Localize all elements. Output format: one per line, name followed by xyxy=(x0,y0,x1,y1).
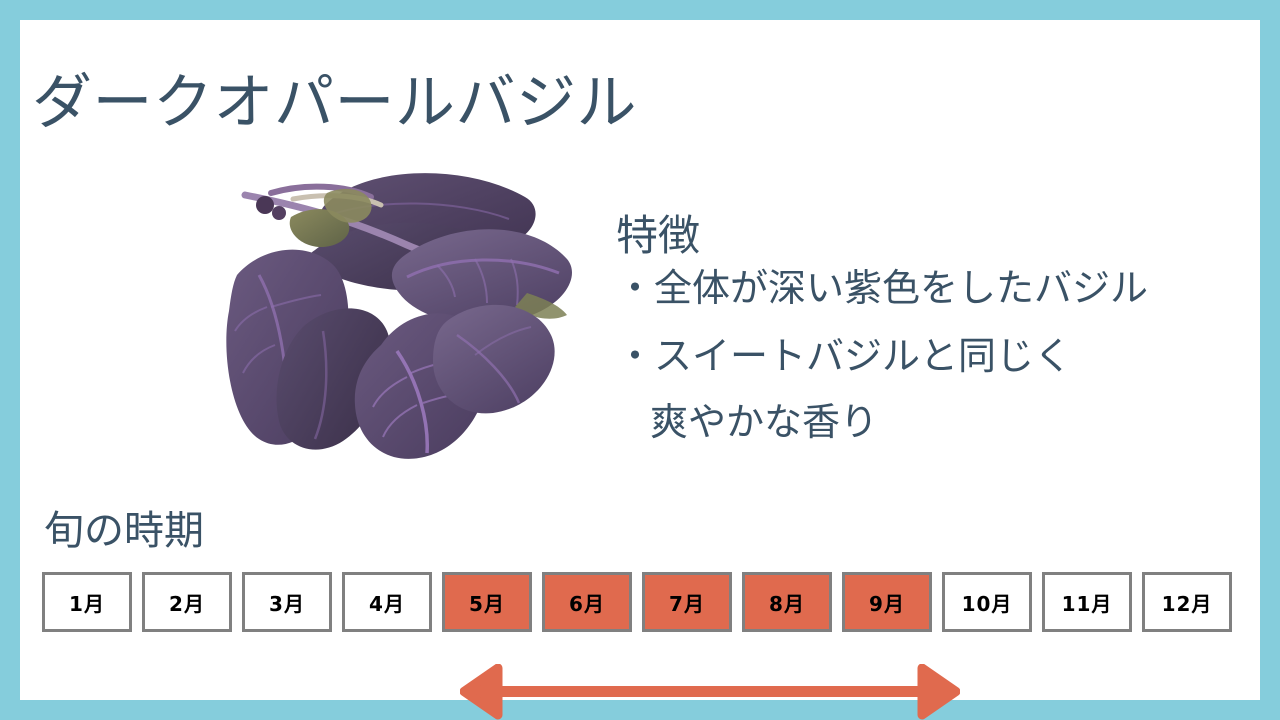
month-label: 9月 xyxy=(869,588,905,617)
month-label: 11月 xyxy=(1062,588,1113,617)
dark-opal-basil-photo xyxy=(175,155,575,470)
month-box-3[interactable]: 3月 xyxy=(242,572,332,632)
month-box-8[interactable]: 8月 xyxy=(742,572,832,632)
feature-item: ・全体が深い紫色をしたバジル xyxy=(616,264,1148,314)
month-box-6[interactable]: 6月 xyxy=(542,572,632,632)
season-month-row: 1月2月3月4月5月6月7月8月9月10月11月12月 xyxy=(42,572,1242,634)
feature-item-continuation: 爽やかな香り xyxy=(650,398,878,448)
features-heading: 特徴 xyxy=(616,207,700,265)
season-heading: 旬の時期 xyxy=(44,503,204,559)
slide-canvas: ダークオパールバジル xyxy=(20,20,1260,700)
season-range-arrow xyxy=(460,664,960,720)
month-label: 2月 xyxy=(169,588,205,617)
feature-item: ・スイートバジルと同じく xyxy=(616,332,1072,382)
month-box-10[interactable]: 10月 xyxy=(942,572,1032,632)
month-label: 8月 xyxy=(769,588,805,617)
month-box-4[interactable]: 4月 xyxy=(342,572,432,632)
month-box-7[interactable]: 7月 xyxy=(642,572,732,632)
month-label: 7月 xyxy=(669,588,705,617)
month-box-11[interactable]: 11月 xyxy=(1042,572,1132,632)
month-label: 4月 xyxy=(369,588,405,617)
month-label: 1月 xyxy=(69,588,105,617)
month-label: 10月 xyxy=(962,588,1013,617)
slide-frame: ダークオパールバジル xyxy=(0,0,1280,720)
month-label: 5月 xyxy=(469,588,505,617)
page-title: ダークオパールバジル xyxy=(32,60,637,146)
month-box-12[interactable]: 12月 xyxy=(1142,572,1232,632)
month-label: 3月 xyxy=(269,588,305,617)
month-box-5[interactable]: 5月 xyxy=(442,572,532,632)
month-box-9[interactable]: 9月 xyxy=(842,572,932,632)
month-box-2[interactable]: 2月 xyxy=(142,572,232,632)
month-label: 6月 xyxy=(569,588,605,617)
month-label: 12月 xyxy=(1162,588,1213,617)
month-box-1[interactable]: 1月 xyxy=(42,572,132,632)
